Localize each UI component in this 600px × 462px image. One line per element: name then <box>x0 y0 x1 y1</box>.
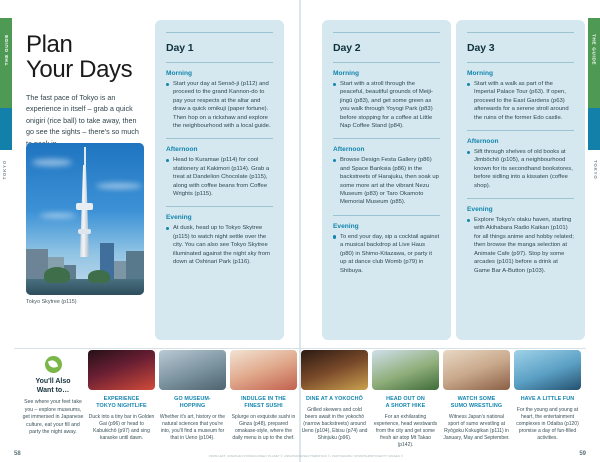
sumo-photo <box>443 350 510 390</box>
cloud-shape <box>40 213 76 218</box>
slot-label-morning: Morning <box>467 70 574 77</box>
card-body: Whether it's art, history or the natural… <box>159 414 226 442</box>
slot-text: Start with a stroll through the peaceful… <box>340 81 433 129</box>
page-number-right: 59 <box>579 451 586 457</box>
highlight-cards: EXPERIENCE TOKYO NIGHTLIFE Duck into a t… <box>88 350 588 449</box>
skytree-observation-deck <box>76 203 93 210</box>
divider <box>333 215 440 216</box>
highlight-card[interactable]: WATCH SOME SUMO WRESTLING Witness Japan'… <box>443 350 510 449</box>
day-title: Day 3 <box>467 42 574 54</box>
slot-text-afternoon: Sift through shelves of old books at Jim… <box>467 148 574 190</box>
card-body: For an exhilarating experience, head wes… <box>372 414 439 449</box>
leaf-icon <box>45 356 62 373</box>
cloud-shape <box>96 183 142 189</box>
sushi-photo <box>230 350 297 390</box>
card-title-line1: HAVE A LITTLE FUN <box>521 396 575 402</box>
divider <box>166 32 273 33</box>
also-title-line1: You'll Also <box>35 378 70 385</box>
divider <box>467 62 574 63</box>
also-body: See where your feet take you – explore m… <box>22 399 84 437</box>
page-title-line2: Your Days <box>26 56 132 83</box>
slot-text: Sift through shelves of old books at Jim… <box>474 149 573 189</box>
slot-label-evening: Evening <box>333 223 440 230</box>
page-title: Plan Your Days <box>26 32 144 82</box>
slot-text-evening: To end your day, sip a cocktail against … <box>333 233 440 275</box>
bullet-dot <box>467 219 470 222</box>
card-title-line1: WATCH SOME <box>458 396 496 402</box>
slot-text-evening: Explore Tokyo's otaku haven, starting wi… <box>467 216 574 275</box>
divider <box>333 138 440 139</box>
slot-text: Start with a walk as part of the Imperia… <box>474 81 569 121</box>
odaiba-photo <box>514 350 581 390</box>
card-body: Duck into a tiny bar in Golden Gai (p96)… <box>88 414 155 442</box>
skytree-lower-deck <box>78 229 91 234</box>
highlight-card[interactable]: GO MUSEUM- HOPPING Whether it's art, his… <box>159 350 226 449</box>
tab-the-guide-label-right: THE GUIDE <box>592 34 597 65</box>
photo-caption: Tokyo Skytree (p115) <box>26 299 77 305</box>
highlight-card[interactable]: INDULGE IN THE FINEST SUSHI Splurge on e… <box>230 350 297 449</box>
slot-text-afternoon: Head to Kuramae (p114) for cool statione… <box>166 156 273 198</box>
card-title-line2: TOKYO NIGHTLIFE <box>96 403 147 409</box>
card-title: DINE AT A YOKOCHŌ <box>301 396 368 403</box>
highlight-card[interactable]: DINE AT A YOKOCHŌ Grilled skewers and co… <box>301 350 368 449</box>
slot-label-afternoon: Afternoon <box>467 138 574 145</box>
card-body: Splurge on exquisite sushi in Ginza (p48… <box>230 414 297 442</box>
slot-text-morning: Start with a stroll through the peaceful… <box>333 80 440 130</box>
page-title-line1: Plan <box>26 31 72 58</box>
slot-label-evening: Evening <box>467 206 574 213</box>
museum-photo <box>159 350 226 390</box>
highlight-card[interactable]: HAVE A LITTLE FUN For the young and youn… <box>514 350 581 449</box>
bullet-dot <box>333 235 336 238</box>
bullet-dot <box>166 159 169 162</box>
divider <box>467 198 574 199</box>
highlight-card[interactable]: EXPERIENCE TOKYO NIGHTLIFE Duck into a t… <box>88 350 155 449</box>
also-title: You'll Also Want to… <box>22 377 84 395</box>
day-card-2: Day 2 Morning Start with a stroll throug… <box>322 20 451 340</box>
tree-shape <box>44 267 70 283</box>
slot-text-morning: Start your day at Sensō-ji (p112) and pr… <box>166 80 273 130</box>
card-title-line2: HOPPING <box>180 403 206 409</box>
day-card-1: Day 1 Morning Start your day at Sensō-ji… <box>155 20 284 340</box>
card-title: EXPERIENCE TOKYO NIGHTLIFE <box>88 396 155 410</box>
bullet-dot <box>166 83 169 86</box>
card-title: HAVE A LITTLE FUN <box>514 396 581 403</box>
slot-text: Head to Kuramae (p114) for cool statione… <box>173 157 269 197</box>
bullet-dot <box>333 159 336 162</box>
hiking-photo <box>372 350 439 390</box>
slot-text: To end your day, sip a cocktail against … <box>340 234 439 274</box>
card-title-line1: DINE AT A YOKOCHŌ <box>306 396 363 402</box>
slot-label-evening: Evening <box>166 214 273 221</box>
slot-label-afternoon: Afternoon <box>166 146 273 153</box>
card-title-line1: HEAD OUT ON <box>386 396 425 402</box>
card-title-line2: SUMO WRESTLING <box>451 403 502 409</box>
card-body: Witness Japan's national sport of sumo w… <box>443 414 510 442</box>
card-title-line2: FINEST SUSHI <box>244 403 282 409</box>
bullet-dot <box>166 227 169 230</box>
card-title-line2: A SHORT HIKE <box>386 403 426 409</box>
bullet-dot <box>467 83 470 86</box>
skytree-spire <box>84 147 86 167</box>
divider <box>333 62 440 63</box>
slot-text: Browse Design Festa Gallery (p86) and Sp… <box>340 157 439 205</box>
card-body: Grilled skewers and cold beers await in … <box>301 407 368 442</box>
slot-label-morning: Morning <box>333 70 440 77</box>
neon-bar-photo <box>88 350 155 390</box>
highlight-card[interactable]: HEAD OUT ON A SHORT HIKE For an exhilara… <box>372 350 439 449</box>
tab-tokyo-label-left: TOKYO <box>2 160 7 180</box>
slot-text-afternoon: Browse Design Festa Gallery (p86) and Sp… <box>333 156 440 206</box>
slot-label-afternoon: Afternoon <box>333 146 440 153</box>
tree-shape <box>88 270 110 283</box>
cloud-shape <box>32 159 72 166</box>
day-title: Day 2 <box>333 42 440 54</box>
bottom-strip: You'll Also Want to… See where your feet… <box>0 348 600 462</box>
guide-spread: THE GUIDE TOKYO THE GUIDE TOKYO Plan You… <box>0 0 600 462</box>
also-want-to-block: You'll Also Want to… See where your feet… <box>22 356 84 437</box>
page-number-left: 58 <box>14 451 21 457</box>
card-body: For the young and young at heart, the en… <box>514 407 581 442</box>
divider <box>467 32 574 33</box>
divider <box>166 62 273 63</box>
photo-credit: FROM LEFT: JONATHAN STOKES/LONELY PLANET… <box>96 455 516 458</box>
slot-text: Explore Tokyo's otaku haven, starting wi… <box>474 217 574 273</box>
divider <box>14 348 586 349</box>
card-title-line1: GO MUSEUM- <box>174 396 211 402</box>
card-title: GO MUSEUM- HOPPING <box>159 396 226 410</box>
divider <box>467 130 574 131</box>
card-title: HEAD OUT ON A SHORT HIKE <box>372 396 439 410</box>
card-title: WATCH SOME SUMO WRESTLING <box>443 396 510 410</box>
slot-label-morning: Morning <box>166 70 273 77</box>
card-title: INDULGE IN THE FINEST SUSHI <box>230 396 297 410</box>
yokocho-photo <box>301 350 368 390</box>
bullet-dot <box>467 151 470 154</box>
slot-text: At dusk, head up to Tokyo Skytree (p115)… <box>173 225 270 265</box>
slot-text: Start your day at Sensō-ji (p112) and pr… <box>173 81 271 129</box>
card-title-line1: EXPERIENCE <box>104 396 140 402</box>
tab-tokyo-left[interactable] <box>0 108 12 150</box>
intro-block: Plan Your Days The fast pace of Tokyo is… <box>26 32 144 149</box>
divider <box>333 32 440 33</box>
bullet-dot <box>333 83 336 86</box>
divider <box>166 138 273 139</box>
day-card-3: Day 3 Morning Start with a walk as part … <box>456 20 585 340</box>
also-title-line2: Want to… <box>37 387 69 394</box>
slot-text-morning: Start with a walk as part of the Imperia… <box>467 80 574 122</box>
foreground-ground <box>26 279 144 295</box>
tokyo-skytree-photo <box>26 143 144 295</box>
divider <box>166 206 273 207</box>
day-title: Day 1 <box>166 42 273 54</box>
slot-text-evening: At dusk, head up to Tokyo Skytree (p115)… <box>166 224 273 266</box>
tab-the-guide-label-left: THE GUIDE <box>4 34 9 65</box>
card-title-line1: INDULGE IN THE <box>241 396 286 402</box>
tab-tokyo-right[interactable] <box>588 108 600 150</box>
intro-paragraph: The fast pace of Tokyo is an experience … <box>26 92 144 149</box>
tab-tokyo-label-right: TOKYO <box>593 160 598 180</box>
